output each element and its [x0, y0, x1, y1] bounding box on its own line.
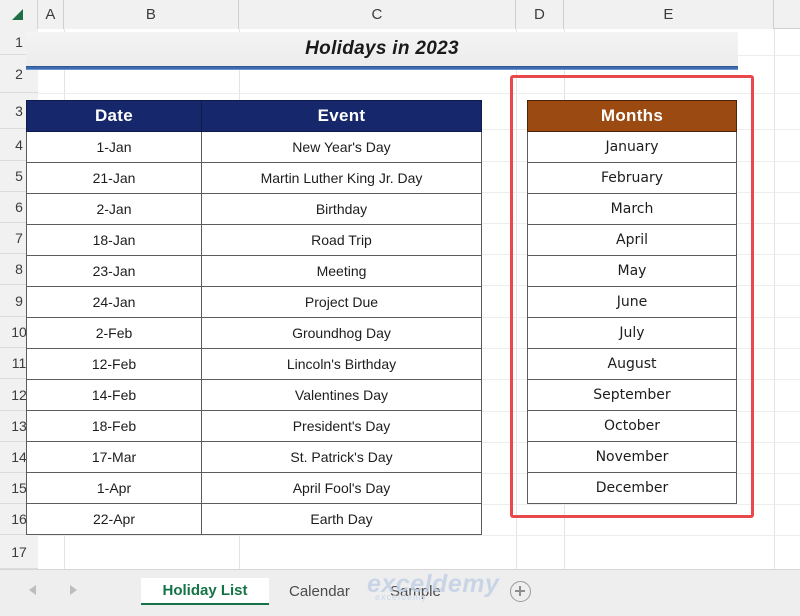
cell-date[interactable]: 2-Feb — [27, 318, 202, 349]
months-row[interactable]: April — [528, 225, 737, 256]
cell-event[interactable]: Lincoln's Birthday — [202, 349, 482, 380]
cell-month[interactable]: November — [528, 442, 737, 473]
cell-date[interactable]: 12-Feb — [27, 349, 202, 380]
cell-event[interactable]: Groundhog Day — [202, 318, 482, 349]
cell-month[interactable]: January — [528, 132, 737, 163]
sheet-title-banner: Holidays in 2023 — [26, 32, 738, 66]
gridline-horizontal — [38, 93, 800, 94]
select-all-corner[interactable] — [0, 0, 38, 29]
column-header-date[interactable]: Date — [27, 101, 202, 132]
cell-month[interactable]: July — [528, 318, 737, 349]
cell-date[interactable]: 24-Jan — [27, 287, 202, 318]
cell-event[interactable]: Martin Luther King Jr. Day — [202, 163, 482, 194]
months-header-row: Months — [528, 101, 737, 132]
sheet-tab-bar: Holiday List Calendar Sample — [0, 569, 800, 616]
months-row[interactable]: July — [528, 318, 737, 349]
cell-date[interactable]: 21-Jan — [27, 163, 202, 194]
table-row[interactable]: 23-JanMeeting — [27, 256, 482, 287]
cell-event[interactable]: Valentines Day — [202, 380, 482, 411]
cell-month[interactable]: March — [528, 194, 737, 225]
column-header-b[interactable]: B — [64, 0, 239, 29]
months-table[interactable]: Months JanuaryFebruaryMarchAprilMayJuneJ… — [527, 100, 737, 504]
table-row[interactable]: 2-JanBirthday — [27, 194, 482, 225]
table-row[interactable]: 14-FebValentines Day — [27, 380, 482, 411]
cell-date[interactable]: 23-Jan — [27, 256, 202, 287]
cell-event[interactable]: Earth Day — [202, 504, 482, 535]
cell-month[interactable]: May — [528, 256, 737, 287]
sheet-nav-arrows — [26, 582, 80, 598]
cell-event[interactable]: Road Trip — [202, 225, 482, 256]
sheet-tab-sample[interactable]: Sample — [378, 578, 453, 605]
sheet-tab-holiday-list[interactable]: Holiday List — [141, 578, 269, 605]
title-accent-rule — [26, 66, 738, 70]
column-header-bar: A B C D E — [0, 0, 800, 29]
gridline-horizontal — [38, 535, 800, 536]
column-header-e[interactable]: E — [564, 0, 774, 29]
column-header-c[interactable]: C — [239, 0, 516, 29]
table-row[interactable]: 1-JanNew Year's Day — [27, 132, 482, 163]
table-row[interactable]: 18-JanRoad Trip — [27, 225, 482, 256]
cell-month[interactable]: April — [528, 225, 737, 256]
cell-event[interactable]: Birthday — [202, 194, 482, 225]
months-row[interactable]: August — [528, 349, 737, 380]
table-row[interactable]: 1-AprApril Fool's Day — [27, 473, 482, 504]
months-row[interactable]: December — [528, 473, 737, 504]
cell-month[interactable]: August — [528, 349, 737, 380]
table-row[interactable]: 12-FebLincoln's Birthday — [27, 349, 482, 380]
cell-month[interactable]: October — [528, 411, 737, 442]
row-header-17[interactable]: 17 — [0, 535, 38, 569]
column-header-d[interactable]: D — [516, 0, 564, 29]
next-sheet-arrow-icon[interactable] — [64, 582, 80, 598]
column-header-event[interactable]: Event — [202, 101, 482, 132]
previous-sheet-arrow-icon[interactable] — [26, 582, 42, 598]
cell-date[interactable]: 2-Jan — [27, 194, 202, 225]
table-row[interactable]: 21-JanMartin Luther King Jr. Day — [27, 163, 482, 194]
cell-date[interactable]: 18-Jan — [27, 225, 202, 256]
table-row[interactable]: 2-FebGroundhog Day — [27, 318, 482, 349]
add-sheet-plus-icon[interactable] — [510, 581, 531, 602]
select-all-triangle-icon — [12, 9, 23, 20]
gridline-vertical — [516, 29, 517, 569]
cell-event[interactable]: St. Patrick's Day — [202, 442, 482, 473]
table-row[interactable]: 18-FebPresident's Day — [27, 411, 482, 442]
months-row[interactable]: May — [528, 256, 737, 287]
cell-date[interactable]: 17-Mar — [27, 442, 202, 473]
excel-window: A B C D E 1234567891011121314151617 Holi… — [0, 0, 800, 616]
cell-month[interactable]: June — [528, 287, 737, 318]
cell-date[interactable]: 22-Apr — [27, 504, 202, 535]
cell-month[interactable]: December — [528, 473, 737, 504]
cell-date[interactable]: 1-Jan — [27, 132, 202, 163]
cell-date[interactable]: 1-Apr — [27, 473, 202, 504]
cell-event[interactable]: New Year's Day — [202, 132, 482, 163]
cell-month[interactable]: February — [528, 163, 737, 194]
sheet-tab-calendar[interactable]: Calendar — [277, 578, 362, 605]
cell-date[interactable]: 18-Feb — [27, 411, 202, 442]
column-header-months[interactable]: Months — [528, 101, 737, 132]
cell-date[interactable]: 14-Feb — [27, 380, 202, 411]
months-row[interactable]: January — [528, 132, 737, 163]
months-row[interactable]: February — [528, 163, 737, 194]
months-row[interactable]: September — [528, 380, 737, 411]
table-row[interactable]: 24-JanProject Due — [27, 287, 482, 318]
months-row[interactable]: June — [528, 287, 737, 318]
cell-month[interactable]: September — [528, 380, 737, 411]
cell-event[interactable]: President's Day — [202, 411, 482, 442]
table-header-row: Date Event — [27, 101, 482, 132]
page-title: Holidays in 2023 — [305, 38, 459, 60]
table-row[interactable]: 22-AprEarth Day — [27, 504, 482, 535]
holidays-table[interactable]: Date Event 1-JanNew Year's Day21-JanMart… — [26, 100, 482, 535]
table-row[interactable]: 17-MarSt. Patrick's Day — [27, 442, 482, 473]
months-row[interactable]: March — [528, 194, 737, 225]
cell-event[interactable]: Project Due — [202, 287, 482, 318]
gridline-vertical — [774, 29, 775, 569]
months-row[interactable]: October — [528, 411, 737, 442]
cell-event[interactable]: Meeting — [202, 256, 482, 287]
months-row[interactable]: November — [528, 442, 737, 473]
cell-event[interactable]: April Fool's Day — [202, 473, 482, 504]
column-header-a[interactable]: A — [38, 0, 64, 29]
